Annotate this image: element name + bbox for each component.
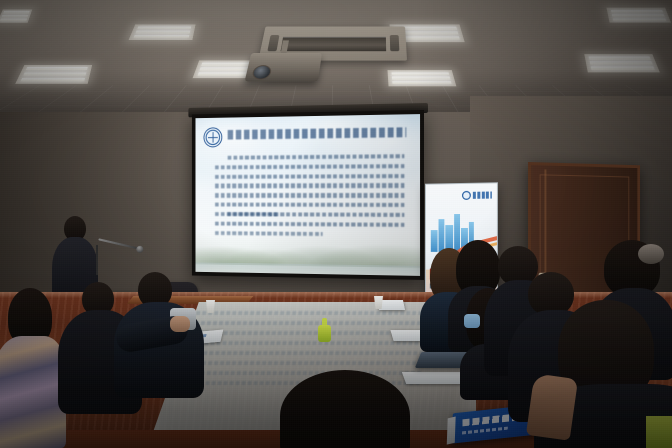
banner-logo-text	[473, 191, 492, 198]
bottle-body	[318, 325, 331, 342]
person-hand	[170, 316, 190, 332]
microphone-stem	[96, 245, 98, 275]
booklet-subtitle-text	[462, 426, 508, 434]
booklet-page-edge	[447, 416, 456, 444]
attendee-striped-sweater	[0, 288, 66, 448]
screen-frame	[192, 110, 424, 280]
slide-footer-image	[195, 230, 420, 276]
projection-screen	[192, 110, 424, 280]
person-striped-clothing	[0, 336, 66, 448]
presentation-slide	[195, 114, 420, 276]
banner-logo-mark-icon	[462, 191, 471, 200]
hair-tie-accessory	[638, 244, 664, 264]
foreground-attendee	[520, 300, 672, 448]
blue-face-mask	[464, 314, 480, 328]
paper-cup	[206, 300, 215, 313]
foreground-head-center	[280, 370, 410, 448]
paper-document	[402, 372, 466, 384]
paper-cup	[374, 296, 383, 309]
green-drink-bottle	[318, 318, 331, 342]
slide-body-paragraph	[215, 154, 404, 217]
banner-logo	[462, 189, 492, 201]
meeting-room-photo	[0, 0, 672, 448]
person-hand-to-face	[526, 373, 578, 441]
attendee-yellow-garment	[646, 416, 672, 448]
attendee-arm-left	[116, 300, 186, 370]
person-hair	[280, 370, 410, 448]
slide-emblem-icon	[203, 127, 222, 147]
